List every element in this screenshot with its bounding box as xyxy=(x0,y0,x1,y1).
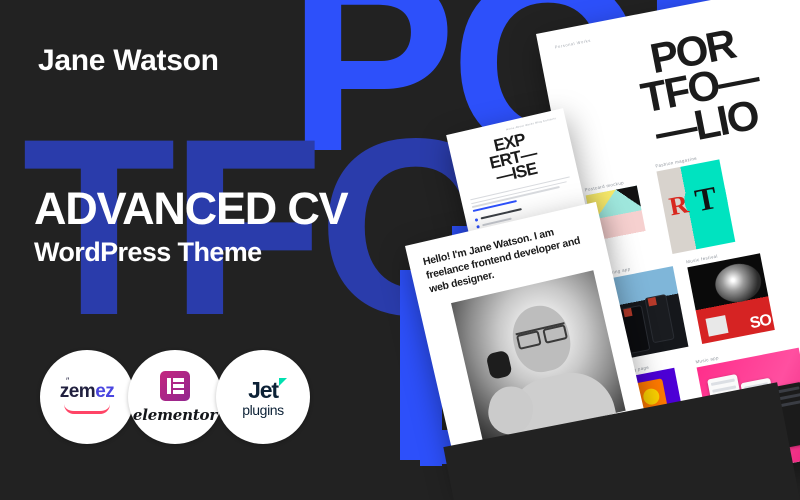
portfolio-item-music-festival[interactable]: Music festival SO xyxy=(686,245,775,344)
social-links: f Be xyxy=(558,429,605,447)
dribbble-icon[interactable] xyxy=(595,429,605,439)
page-title: ADVANCED CV xyxy=(34,186,348,231)
author-name: Jane Watson xyxy=(38,44,219,78)
portfolio-heading: POR TFO— —LIO xyxy=(557,8,800,168)
row xyxy=(745,389,769,397)
promo-banner: POR TFO Jane Watson ADVANCED CV WordPres… xyxy=(0,0,800,500)
fashion-magazine-thumb xyxy=(656,159,735,254)
crop-wedge-bottom xyxy=(0,460,420,500)
thumb-accent xyxy=(648,297,657,306)
jet-plugins-wordmark: plugins xyxy=(242,402,284,418)
partner-badges: ″ zemez elementor Jet plugins xyxy=(40,350,304,444)
elementor-wordmark: elementor xyxy=(133,406,217,424)
elementor-bar-3 xyxy=(173,390,184,394)
badge-jet-plugins: Jet plugins xyxy=(216,350,310,444)
row xyxy=(775,386,799,394)
elementor-bar-2 xyxy=(173,384,184,388)
festival-text-mark: SO xyxy=(748,311,772,333)
portfolio-item-music-app[interactable]: Music app xyxy=(695,340,800,478)
zemez-letters-em: em xyxy=(69,381,95,402)
festival-square-shape xyxy=(705,315,728,336)
jet-triangle-icon xyxy=(279,378,287,386)
badge-elementor: elementor xyxy=(128,350,222,444)
row xyxy=(748,403,772,411)
facebook-icon[interactable]: f xyxy=(558,440,561,446)
instagram-icon[interactable] xyxy=(567,436,577,446)
zemez-letters-ez: ez xyxy=(95,381,114,402)
elementor-mark-icon xyxy=(160,371,190,401)
portfolio-item-fashion[interactable]: Fashion magazine xyxy=(655,151,735,254)
row xyxy=(744,382,768,390)
row xyxy=(715,399,739,407)
behance-icon[interactable]: Be xyxy=(581,434,590,441)
row xyxy=(711,378,735,386)
row xyxy=(778,400,800,408)
jet-wordmark: Jet xyxy=(248,377,278,404)
row xyxy=(713,392,737,400)
portrait-hand xyxy=(485,349,512,379)
download-cv-button[interactable]: Download my CV xyxy=(485,437,551,468)
elementor-bars-group xyxy=(173,378,184,394)
page-subtitle: WordPress Theme xyxy=(34,237,348,268)
bullet-icon xyxy=(475,218,479,222)
music-app-thumb xyxy=(697,348,800,478)
headline-block: ADVANCED CV WordPress Theme xyxy=(34,186,348,268)
badge-zemez: ″ zemez xyxy=(40,350,134,444)
row xyxy=(747,396,771,404)
portrait-photo xyxy=(451,270,626,443)
zemez-smile-icon xyxy=(64,404,110,414)
elementor-bar-1 xyxy=(173,378,184,382)
row xyxy=(777,393,800,401)
elementor-bar-vertical xyxy=(167,378,171,394)
author-block: Jane Watson xyxy=(38,44,219,78)
phone-mock-b xyxy=(644,294,674,343)
row xyxy=(712,385,736,393)
festival-blob-shape xyxy=(712,260,764,306)
thumb-accent xyxy=(623,308,632,317)
music-festival-thumb: SO xyxy=(687,253,775,344)
zemez-crown-icon: ″ xyxy=(66,376,70,386)
